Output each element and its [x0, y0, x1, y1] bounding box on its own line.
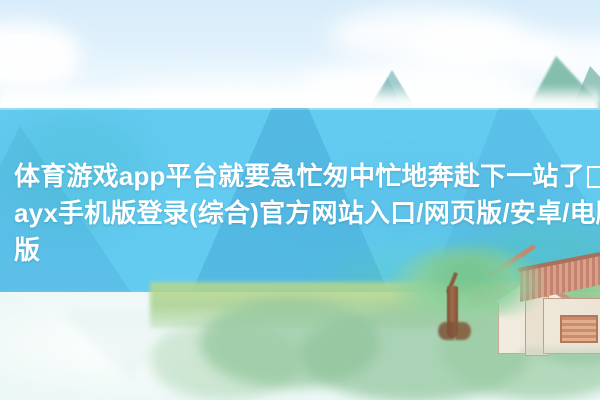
house-window — [560, 315, 598, 343]
house-ground-shadow — [520, 348, 600, 356]
fire-emoji-icon — [587, 166, 600, 188]
tree-root — [438, 322, 454, 340]
caption-line-2: ayx手机版登录(综合)官方网站入口/网页版/安 — [14, 198, 536, 228]
tree-root — [455, 322, 471, 340]
banner-image: 体育游戏app平台就要急忙匆中忙地奔赴下一站了ayx手机版登录(综合)官方网站入… — [0, 0, 600, 400]
caption-text: 体育游戏app平台就要急忙匆中忙地奔赴下一站了ayx手机版登录(综合)官方网站入… — [14, 158, 600, 269]
caption-line-1: 体育游戏app平台就要急忙匆中忙地奔赴下一站了 — [14, 161, 585, 191]
